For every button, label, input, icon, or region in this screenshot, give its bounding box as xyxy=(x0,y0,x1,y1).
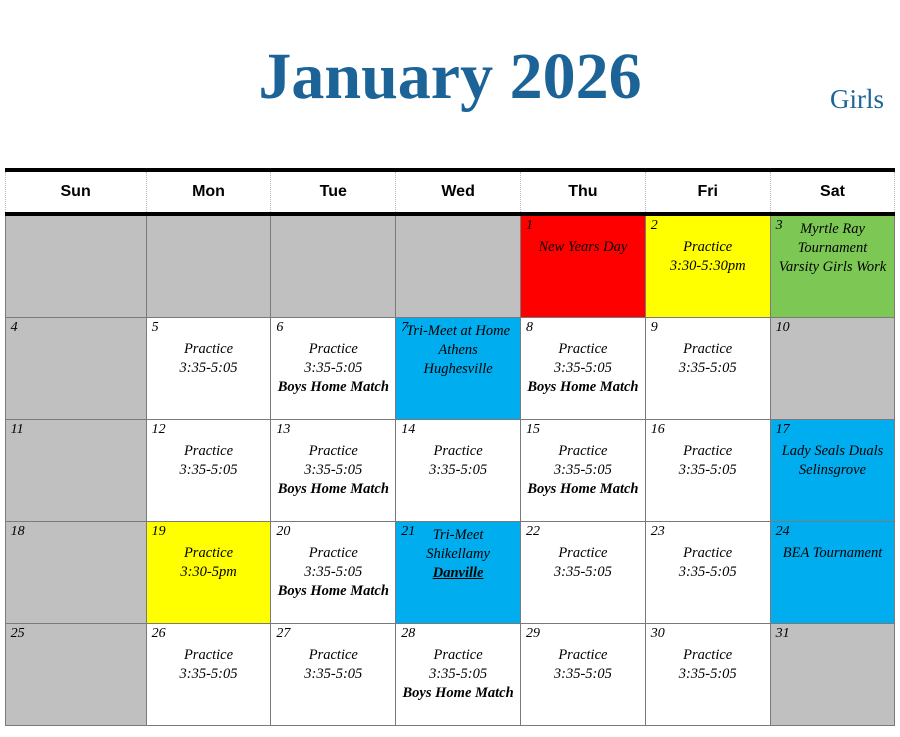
day-number: 18 xyxy=(11,524,25,539)
event-line: 3:35-5:05 xyxy=(646,359,770,378)
day-number: 9 xyxy=(651,320,658,335)
day-cell-20[interactable]: 20Practice3:35-5:05Boys Home Match xyxy=(271,522,396,624)
event-line: 3:35-5:05 xyxy=(646,665,770,684)
day-number: 28 xyxy=(401,626,415,641)
day-cell-19[interactable]: 19Practice3:30-5pm xyxy=(146,522,271,624)
day-cell-empty[interactable] xyxy=(146,214,271,318)
event-line: Boys Home Match xyxy=(521,378,645,397)
event-line: Boys Home Match xyxy=(521,480,645,499)
event-line: 3:35-5:05 xyxy=(271,563,395,582)
day-cell-17[interactable]: 17Lady Seals DualsSelinsgrove xyxy=(770,420,895,522)
day-cell-26[interactable]: 26Practice3:35-5:05 xyxy=(146,624,271,726)
event-line: 3:35-5:05 xyxy=(521,665,645,684)
day-events: Practice3:35-5:05 xyxy=(147,318,271,378)
day-cell-16[interactable]: 16Practice3:35-5:05 xyxy=(645,420,770,522)
event-line: 3:35-5:05 xyxy=(521,359,645,378)
day-cell-31[interactable]: 31 xyxy=(770,624,895,726)
event-line: Practice xyxy=(646,646,770,665)
event-line: Selinsgrove xyxy=(771,461,895,480)
event-line: Practice xyxy=(271,646,395,665)
event-line: Practice xyxy=(646,340,770,359)
event-line: Practice xyxy=(396,646,520,665)
day-cell-24[interactable]: 24BEA Tournament xyxy=(770,522,895,624)
event-line: Boys Home Match xyxy=(396,684,520,703)
event-line: Boys Home Match xyxy=(271,582,395,601)
day-number: 12 xyxy=(152,422,166,437)
event-line: Practice xyxy=(147,442,271,461)
calendar-grid: SunMonTueWedThuFriSat 1New Years Day2Pra… xyxy=(5,168,896,726)
day-cell-6[interactable]: 6Practice3:35-5:05Boys Home Match xyxy=(271,318,396,420)
day-events: Practice3:35-5:05Boys Home Match xyxy=(521,318,645,397)
event-line: 3:35-5:05 xyxy=(147,359,271,378)
day-number: 22 xyxy=(526,524,540,539)
day-number: 13 xyxy=(276,422,290,437)
day-number: 23 xyxy=(651,524,665,539)
day-number: 3 xyxy=(776,218,783,233)
event-line: Practice xyxy=(521,340,645,359)
event-line: Lady Seals Duals xyxy=(771,442,895,461)
day-cell-empty[interactable] xyxy=(5,214,146,318)
event-line: 3:35-5:05 xyxy=(147,665,271,684)
weekday-header-wed: Wed xyxy=(396,170,521,214)
day-cell-29[interactable]: 29Practice3:35-5:05 xyxy=(521,624,646,726)
event-line: Practice xyxy=(646,442,770,461)
day-number: 17 xyxy=(776,422,790,437)
day-cell-12[interactable]: 12Practice3:35-5:05 xyxy=(146,420,271,522)
event-line: Shikellamy xyxy=(396,545,520,564)
day-number: 15 xyxy=(526,422,540,437)
day-events: Myrtle RayTournamentVarsity Girls Work xyxy=(771,216,895,277)
team-label: Girls xyxy=(830,86,884,113)
day-cell-empty[interactable] xyxy=(271,214,396,318)
day-cell-15[interactable]: 15Practice3:35-5:05Boys Home Match xyxy=(521,420,646,522)
day-number: 26 xyxy=(152,626,166,641)
day-number: 14 xyxy=(401,422,415,437)
day-cell-28[interactable]: 28Practice3:35-5:05Boys Home Match xyxy=(396,624,521,726)
day-number: 19 xyxy=(152,524,166,539)
event-line: Practice xyxy=(396,442,520,461)
event-line: Hughesville xyxy=(396,360,520,379)
day-cell-21[interactable]: 21Tri-MeetShikellamyDanville xyxy=(396,522,521,624)
day-cell-8[interactable]: 8Practice3:35-5:05Boys Home Match xyxy=(521,318,646,420)
day-cell-5[interactable]: 5Practice3:35-5:05 xyxy=(146,318,271,420)
event-line: 3:30-5pm xyxy=(147,563,271,582)
event-line: 3:35-5:05 xyxy=(147,461,271,480)
event-line: 3:35-5:05 xyxy=(521,461,645,480)
day-cell-13[interactable]: 13Practice3:35-5:05Boys Home Match xyxy=(271,420,396,522)
event-line: Tournament xyxy=(771,239,895,258)
day-number: 20 xyxy=(276,524,290,539)
weekday-header-fri: Fri xyxy=(645,170,770,214)
event-line: Tri-Meet at Home xyxy=(396,322,520,341)
day-cell-27[interactable]: 27Practice3:35-5:05 xyxy=(271,624,396,726)
day-number: 5 xyxy=(152,320,159,335)
calendar-week-row: 2526Practice3:35-5:0527Practice3:35-5:05… xyxy=(5,624,895,726)
day-number: 27 xyxy=(276,626,290,641)
day-number: 4 xyxy=(11,320,18,335)
day-cell-18[interactable]: 18 xyxy=(5,522,146,624)
event-line: Practice xyxy=(521,646,645,665)
weekday-header-tue: Tue xyxy=(271,170,396,214)
day-number: 2 xyxy=(651,218,658,233)
day-cell-30[interactable]: 30Practice3:35-5:05 xyxy=(645,624,770,726)
day-cell-9[interactable]: 9Practice3:35-5:05 xyxy=(645,318,770,420)
weekday-header-thu: Thu xyxy=(521,170,646,214)
day-cell-25[interactable]: 25 xyxy=(5,624,146,726)
event-line: Athens xyxy=(396,341,520,360)
event-line: 3:35-5:05 xyxy=(271,461,395,480)
day-number: 10 xyxy=(776,320,790,335)
event-line: BEA Tournament xyxy=(771,544,895,563)
event-line: Practice xyxy=(646,238,770,257)
day-number: 11 xyxy=(11,422,24,437)
event-line: Practice xyxy=(147,340,271,359)
event-line: New Years Day xyxy=(521,238,645,257)
calendar-weekday-header-row: SunMonTueWedThuFriSat xyxy=(5,170,895,214)
day-number: 25 xyxy=(11,626,25,641)
day-cell-empty[interactable] xyxy=(396,214,521,318)
event-line: Practice xyxy=(147,544,271,563)
event-line: Boys Home Match xyxy=(271,378,395,397)
day-number: 1 xyxy=(526,218,533,233)
event-line: 3:35-5:05 xyxy=(521,563,645,582)
event-line: Practice xyxy=(646,544,770,563)
day-events: Practice3:35-5:05Boys Home Match xyxy=(271,318,395,397)
day-number: 21 xyxy=(401,524,415,539)
day-cell-7[interactable]: 7Tri-Meet at HomeAthensHughesville xyxy=(396,318,521,420)
day-number: 30 xyxy=(651,626,665,641)
day-cell-22[interactable]: 22Practice3:35-5:05 xyxy=(521,522,646,624)
calendar-week-row: 1819Practice3:30-5pm20Practice3:35-5:05B… xyxy=(5,522,895,624)
day-cell-4[interactable]: 4 xyxy=(5,318,146,420)
day-events: New Years Day xyxy=(521,216,645,257)
day-number: 31 xyxy=(776,626,790,641)
event-line: 3:35-5:05 xyxy=(271,665,395,684)
day-cell-11[interactable]: 11 xyxy=(5,420,146,522)
day-events: Tri-Meet at HomeAthensHughesville xyxy=(396,318,520,379)
event-line: Practice xyxy=(271,544,395,563)
event-line: 3:35-5:05 xyxy=(646,461,770,480)
calendar-header: January 2026 Girls xyxy=(0,0,900,168)
calendar-week-row: 1112Practice3:35-5:0513Practice3:35-5:05… xyxy=(5,420,895,522)
page-title: January 2026 xyxy=(0,44,900,110)
day-cell-3[interactable]: 3Myrtle RayTournamentVarsity Girls Work xyxy=(770,214,895,318)
event-line: Danville xyxy=(396,564,520,583)
weekday-header-sun: Sun xyxy=(5,170,146,214)
day-cell-1[interactable]: 1New Years Day xyxy=(521,214,646,318)
day-number: 7 xyxy=(401,320,408,335)
day-cell-2[interactable]: 2Practice3:30-5:30pm xyxy=(645,214,770,318)
day-cell-14[interactable]: 14Practice3:35-5:05 xyxy=(396,420,521,522)
event-line: Practice xyxy=(147,646,271,665)
event-line: 3:35-5:05 xyxy=(646,563,770,582)
calendar-week-row: 45Practice3:35-5:056Practice3:35-5:05Boy… xyxy=(5,318,895,420)
day-number: 29 xyxy=(526,626,540,641)
calendar-body: 1New Years Day2Practice3:30-5:30pm3Myrtl… xyxy=(5,214,895,726)
event-line: Practice xyxy=(271,340,395,359)
weekday-header-mon: Mon xyxy=(146,170,271,214)
day-number: 16 xyxy=(651,422,665,437)
event-line: 3:35-5:05 xyxy=(396,665,520,684)
day-number: 8 xyxy=(526,320,533,335)
event-line: 3:30-5:30pm xyxy=(646,257,770,276)
day-events: Practice3:35-5:05 xyxy=(646,318,770,378)
event-line: Practice xyxy=(271,442,395,461)
event-line: Boys Home Match xyxy=(271,480,395,499)
event-line: Practice xyxy=(521,544,645,563)
event-line: 3:35-5:05 xyxy=(271,359,395,378)
day-number: 6 xyxy=(276,320,283,335)
day-cell-23[interactable]: 23Practice3:35-5:05 xyxy=(645,522,770,624)
event-line: Practice xyxy=(521,442,645,461)
day-events: Practice3:30-5:30pm xyxy=(646,216,770,276)
event-line: 3:35-5:05 xyxy=(396,461,520,480)
day-number: 24 xyxy=(776,524,790,539)
day-cell-10[interactable]: 10 xyxy=(770,318,895,420)
weekday-header-sat: Sat xyxy=(770,170,895,214)
event-line: Varsity Girls Work xyxy=(771,258,895,277)
event-line: Myrtle Ray xyxy=(771,220,895,239)
calendar-week-row: 1New Years Day2Practice3:30-5:30pm3Myrtl… xyxy=(5,214,895,318)
